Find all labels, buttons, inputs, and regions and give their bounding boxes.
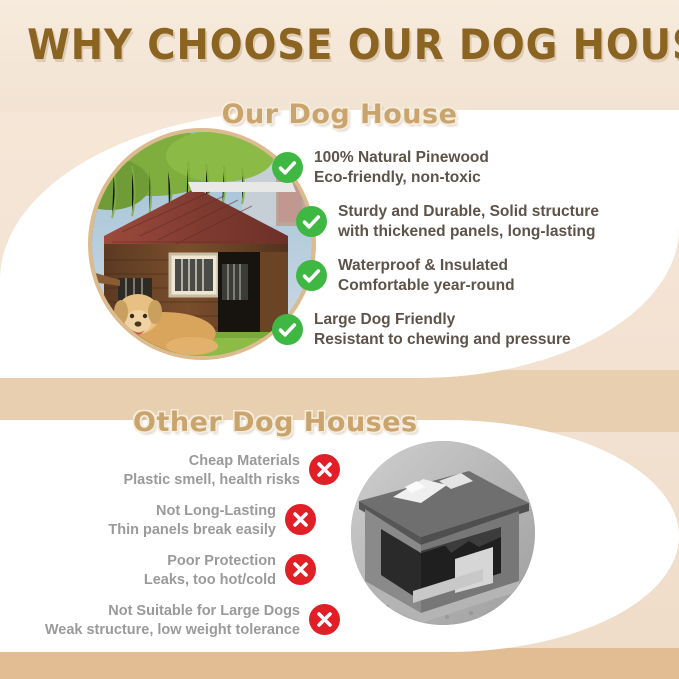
drawback-item: Cheap Materials Plastic smell, health ri…: [0, 452, 348, 494]
drawbacks-list: Cheap Materials Plastic smell, health ri…: [0, 452, 348, 652]
check-circle-icon: [272, 152, 303, 183]
drawback-item: Not Suitable for Large Dogs Weak structu…: [0, 602, 348, 644]
x-circle-icon: [285, 554, 316, 585]
benefit-item: Sturdy and Durable, Solid structure with…: [272, 202, 672, 246]
drawback-text: Not Long-Lasting Thin panels break easil…: [0, 503, 276, 540]
benefit-text: Large Dog Friendly Resistant to chewing …: [314, 311, 672, 350]
drawback-item: Poor Protection Leaks, too hot/cold: [0, 552, 348, 594]
section-heading-ours: Our Dog House: [0, 100, 679, 130]
benefit-text: Waterproof & Insulated Comfortable year-…: [338, 257, 672, 296]
background-band-bottom: [0, 648, 679, 679]
page-title: WHY CHOOSE OUR DOG HOUSE?": [27, 22, 652, 68]
section-heading-others: Other Dog Houses: [133, 408, 418, 438]
check-circle-icon: [296, 260, 327, 291]
benefit-text: Sturdy and Durable, Solid structure with…: [338, 203, 672, 242]
photo-other-dog-house: [348, 438, 538, 628]
drawback-text: Poor Protection Leaks, too hot/cold: [0, 553, 276, 590]
x-circle-icon: [309, 454, 340, 485]
drawback-text: Cheap Materials Plastic smell, health ri…: [0, 453, 300, 490]
benefits-list: 100% Natural Pinewood Eco-friendly, non-…: [272, 148, 672, 364]
check-circle-icon: [272, 314, 303, 345]
drawback-text: Not Suitable for Large Dogs Weak structu…: [0, 603, 300, 640]
benefit-text: 100% Natural Pinewood Eco-friendly, non-…: [314, 149, 672, 188]
broken-dog-house-photo-icon: [351, 441, 535, 625]
x-circle-icon: [309, 604, 340, 635]
benefit-item: Waterproof & Insulated Comfortable year-…: [272, 256, 672, 300]
benefit-item: 100% Natural Pinewood Eco-friendly, non-…: [272, 148, 672, 192]
x-circle-icon: [285, 504, 316, 535]
check-circle-icon: [296, 206, 327, 237]
benefit-item: Large Dog Friendly Resistant to chewing …: [272, 310, 672, 354]
infographic-page: WHY CHOOSE OUR DOG HOUSE?" Our Dog House: [0, 0, 679, 679]
drawback-item: Not Long-Lasting Thin panels break easil…: [0, 502, 348, 544]
